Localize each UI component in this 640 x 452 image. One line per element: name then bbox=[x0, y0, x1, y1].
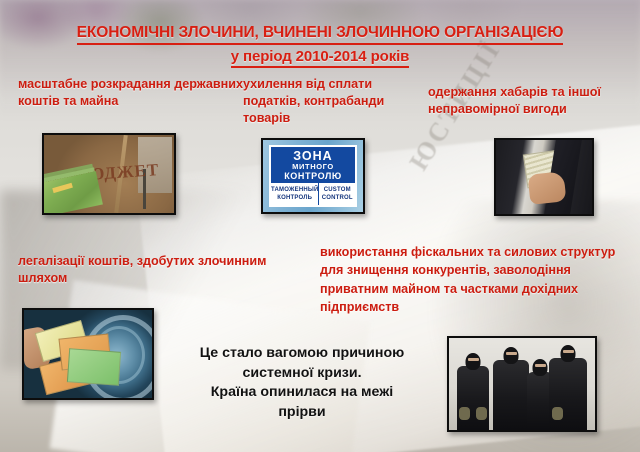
photo-budget-sack-image: БЮДЖЕТ bbox=[44, 135, 174, 213]
customs-sign-russian: ТАМОЖЕННЫЙ КОНТРОЛЬ bbox=[271, 183, 318, 205]
photo-eye-slit-3 bbox=[535, 364, 546, 367]
caption-tax-evasion: ухилення від сплати податків, контрабанд… bbox=[243, 76, 423, 127]
caption-bribery: одержання хабарів та іншої неправомірної… bbox=[428, 84, 628, 118]
photo-balaclava-3 bbox=[533, 359, 548, 376]
slide-title: ЕКОНОМІЧНІ ЗЛОЧИНИ, ВЧИНЕНІ ЗЛОЧИННОЮ ОР… bbox=[0, 24, 640, 68]
title-line-primary: ЕКОНОМІЧНІ ЗЛОЧИНИ, ВЧИНЕНІ ЗЛОЧИННОЮ ОР… bbox=[77, 24, 564, 45]
photo-eye-slit-1 bbox=[468, 358, 479, 361]
customs-sign-line-3: КОНТРОЛЮ bbox=[284, 172, 342, 181]
photo-hand bbox=[527, 171, 566, 205]
photo-balaclava-2 bbox=[504, 347, 519, 364]
customs-sign-russian-line-2: КОНТРОЛЬ bbox=[277, 194, 312, 202]
caption-money-laundering: легалізації коштів, здобутих злочинним ш… bbox=[18, 253, 288, 287]
customs-sign-subtitles: ТАМОЖЕННЫЙ КОНТРОЛЬ CUSTOM CONTROL bbox=[271, 182, 355, 205]
photo-customs-sign: ЗОНА МИТНОГО КОНТРОЛЮ ТАМОЖЕННЫЙ КОНТРОЛ… bbox=[261, 138, 365, 214]
infographic-slide: ЮСТИЦІЇ ЕКОНОМІЧНІ ЗЛОЧИНИ, ВЧИНЕНІ ЗЛОЧ… bbox=[0, 0, 640, 452]
customs-sign-russian-line-1: ТАМОЖЕННЫЙ bbox=[271, 186, 318, 194]
title-line-secondary: у період 2010-2014 років bbox=[231, 48, 410, 68]
photo-washing-machine bbox=[22, 308, 154, 400]
caption-fiscal-structures: використання фіскальних та силових струк… bbox=[320, 243, 636, 316]
photo-glove-2 bbox=[476, 407, 487, 420]
customs-sign-english-line-1: CUSTOM bbox=[324, 186, 351, 194]
photo-customs-sign-image: ЗОНА МИТНОГО КОНТРОЛЮ ТАМОЖЕННЫЙ КОНТРОЛ… bbox=[263, 140, 363, 212]
photo-balaclava-4 bbox=[561, 345, 576, 362]
photo-masked-men bbox=[447, 336, 597, 432]
photo-bribe bbox=[494, 138, 594, 216]
conclusion-line-3: Країна опинилася на межі bbox=[152, 383, 452, 403]
customs-sign-english-line-2: CONTROL bbox=[322, 194, 353, 202]
photo-money-bundles bbox=[42, 171, 103, 215]
photo-glove-3 bbox=[552, 407, 563, 420]
photo-money-band bbox=[52, 183, 73, 193]
conclusion-line-1: Це стало вагомою причиною bbox=[152, 344, 452, 364]
photo-masked-figure-4 bbox=[549, 358, 587, 430]
photo-eye-slit-4 bbox=[563, 350, 574, 353]
photo-eye-slit-2 bbox=[506, 352, 517, 355]
conclusion-line-2: системної кризи. bbox=[152, 364, 452, 384]
customs-sign-board: ЗОНА МИТНОГО КОНТРОЛЮ ТАМОЖЕННЫЙ КОНТРОЛ… bbox=[269, 145, 357, 207]
photo-balaclava-1 bbox=[466, 353, 481, 370]
customs-sign-main: ЗОНА МИТНОГО КОНТРОЛЮ bbox=[271, 147, 355, 182]
caption-embezzlement: масштабне розкрадання державних коштів т… bbox=[18, 76, 250, 110]
photo-glove-1 bbox=[459, 407, 470, 420]
conclusion-text: Це стало вагомою причиною системної криз… bbox=[152, 344, 452, 422]
photo-masked-figure-2 bbox=[493, 360, 529, 430]
photo-euro-note-3 bbox=[67, 348, 121, 386]
photo-washing-machine-image bbox=[24, 310, 152, 398]
photo-bribe-image bbox=[496, 140, 592, 214]
customs-sign-line-2: МИТНОГО bbox=[292, 163, 334, 171]
customs-sign-english: CUSTOM CONTROL bbox=[318, 183, 355, 205]
photo-budget-sack: БЮДЖЕТ bbox=[42, 133, 176, 215]
conclusion-line-4: прірви bbox=[152, 403, 452, 423]
photo-masked-figure-1 bbox=[457, 366, 489, 430]
photo-masked-men-image bbox=[449, 338, 595, 430]
customs-sign-line-1: ЗОНА bbox=[293, 150, 332, 163]
